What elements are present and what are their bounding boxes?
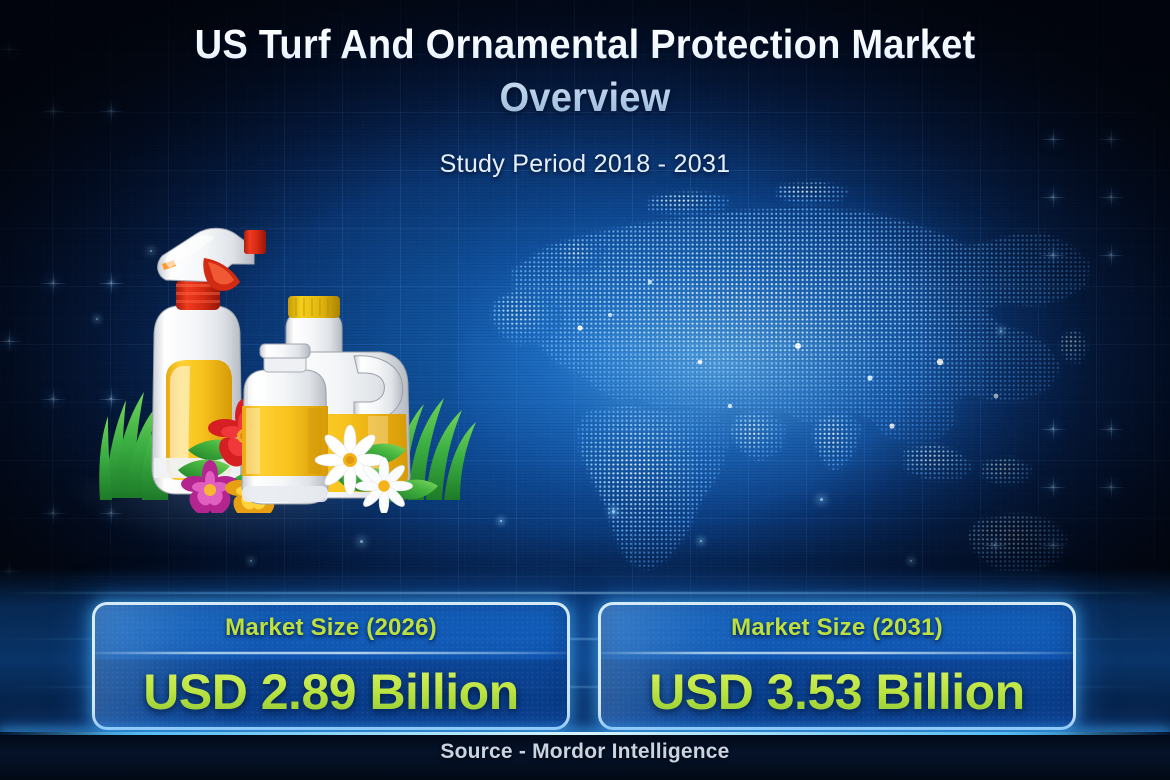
stat-card-label: Market Size (2026) (95, 614, 567, 642)
page-title-line-2: Overview (499, 74, 670, 120)
card-divider (95, 652, 567, 654)
product-illustration (92, 168, 482, 513)
stat-card-value: USD 2.89 Billion (95, 661, 567, 723)
page-title: US Turf And Ornamental Protection Market… (41, 18, 1129, 124)
page-title-line-1: US Turf And Ornamental Protection Market (195, 21, 976, 67)
source-attribution: Source - Mordor Intelligence (0, 740, 1170, 764)
stat-card-label: Market Size (2031) (601, 614, 1073, 642)
stat-card-value: USD 3.53 Billion (601, 661, 1073, 723)
stat-card-2031[interactable]: Market Size (2031) USD 3.53 Billion (598, 602, 1076, 730)
stat-card-2026[interactable]: Market Size (2026) USD 2.89 Billion (92, 602, 570, 730)
study-period-subtitle: Study Period 2018 - 2031 (0, 150, 1170, 179)
infographic-canvas: US Turf And Ornamental Protection Market… (0, 0, 1170, 780)
card-divider (601, 652, 1073, 654)
